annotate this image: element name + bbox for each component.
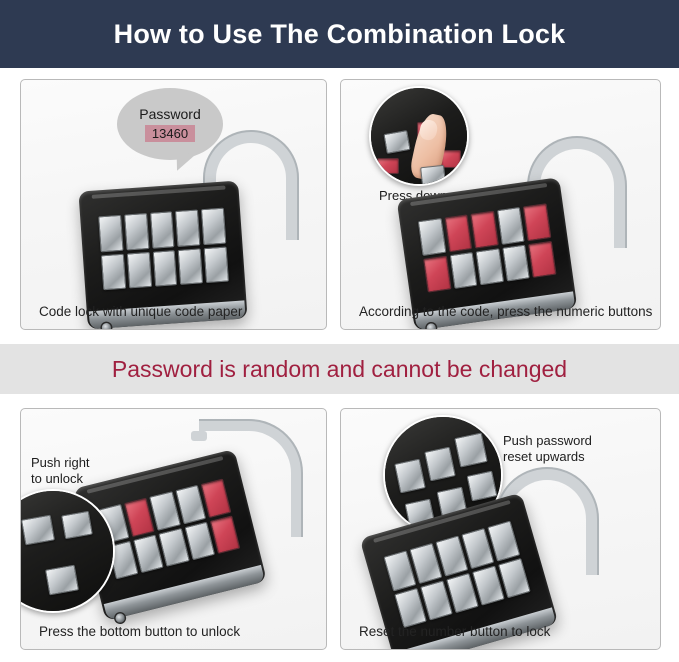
panel-code-lock: Password 13460: [20, 79, 327, 330]
panel-1-caption: Code lock with unique code paper: [39, 304, 242, 319]
inset-keypad-button: [467, 471, 498, 502]
keypad-button[interactable]: [201, 208, 226, 245]
keypad-button[interactable]: [175, 485, 206, 524]
panel-unlock: Push right to unlock: [20, 408, 327, 650]
keypad-button[interactable]: [150, 491, 181, 530]
keypad-button[interactable]: [178, 248, 203, 285]
panel-reset: Push password reset upwards: [340, 408, 661, 650]
keypad-button[interactable]: [150, 211, 175, 248]
panel-3-caption: Press the bottom button to unlock: [39, 624, 240, 639]
inset-keypad-button-pressed: [377, 158, 399, 174]
release-button[interactable]: [102, 323, 112, 330]
keypad: [99, 479, 241, 580]
password-bubble: Password 13460: [117, 88, 223, 160]
password-bubble-code: 13460: [145, 125, 195, 142]
keypad-button-pressed[interactable]: [423, 255, 451, 292]
infographic-page: How to Use The Combination Lock Password…: [0, 0, 679, 662]
page-header: How to Use The Combination Lock: [0, 0, 679, 68]
keypad-button-pressed[interactable]: [523, 203, 551, 240]
inset-keypad-button: [454, 432, 488, 467]
keypad-button[interactable]: [502, 244, 530, 281]
inset-keypad-button: [45, 565, 79, 596]
inset-keypad-button: [21, 515, 55, 546]
inset-keypad-button: [383, 130, 410, 154]
body-highlight: [91, 185, 225, 198]
panel-4-caption: Reset the number button to lock: [359, 624, 550, 639]
body-highlight: [410, 183, 547, 206]
keypad-button[interactable]: [184, 521, 215, 560]
keypad-button[interactable]: [497, 207, 525, 244]
password-warning-banner: Password is random and cannot be changed: [0, 344, 679, 394]
keypad-button-pressed[interactable]: [528, 240, 556, 277]
shackle-open-tip: [191, 431, 207, 441]
keypad-button-pressed[interactable]: [200, 479, 231, 518]
keypad-button-pressed[interactable]: [470, 211, 498, 248]
keypad-button[interactable]: [175, 209, 200, 246]
keypad: [383, 521, 530, 629]
panel-1-stage: Password 13460: [21, 80, 326, 295]
push-right-label: Push right to unlock: [31, 455, 90, 488]
page-title: How to Use The Combination Lock: [114, 19, 566, 50]
panel-2-caption: According to the code, press the numeric…: [359, 304, 652, 319]
inset-keypad-button: [61, 511, 93, 539]
keypad-button[interactable]: [449, 251, 477, 288]
keypad-button[interactable]: [152, 250, 177, 287]
keypad-button[interactable]: [204, 246, 229, 283]
keypad: [98, 208, 229, 291]
panel-3-stage: Push right to unlock: [21, 409, 326, 615]
keypad-button[interactable]: [98, 215, 123, 252]
keypad-button[interactable]: [476, 248, 504, 285]
press-down-inset: [369, 86, 469, 186]
keypad-button[interactable]: [124, 213, 149, 250]
keypad-button[interactable]: [101, 253, 126, 290]
keypad: [418, 203, 557, 292]
panel-press-buttons: Press down: [340, 79, 661, 330]
password-warning-text: Password is random and cannot be changed: [112, 356, 567, 383]
panel-2-stage: Press down: [341, 80, 660, 295]
keypad-button[interactable]: [159, 528, 190, 567]
panel-4-stage: Push password reset upwards: [341, 409, 660, 615]
keypad-button-pressed[interactable]: [444, 214, 472, 251]
password-bubble-title: Password: [139, 106, 200, 122]
inset-background: [20, 491, 113, 611]
inset-keypad-button: [420, 165, 446, 185]
slide-button-inset: [20, 489, 115, 613]
keypad-button[interactable]: [127, 251, 152, 288]
keypad-button-pressed[interactable]: [209, 515, 240, 554]
keypad-button[interactable]: [418, 218, 446, 255]
push-reset-label: Push password reset upwards: [503, 433, 592, 466]
